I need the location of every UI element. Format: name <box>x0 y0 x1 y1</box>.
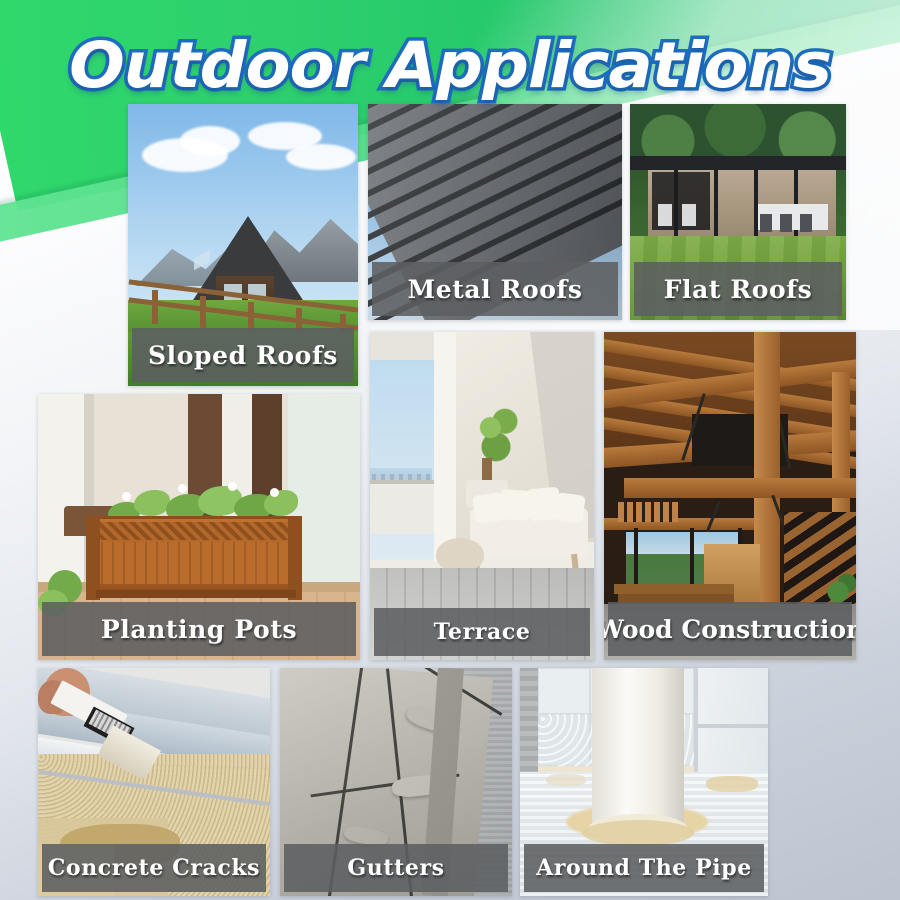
tile-concrete-cracks: Concrete Cracks <box>38 668 270 896</box>
tile-caption: Metal Roofs <box>372 262 618 316</box>
tile-caption: Wood Construction <box>608 602 852 656</box>
tile-terrace: Terrace <box>370 332 594 660</box>
tile-caption: Terrace <box>374 608 590 656</box>
page-title: Outdoor Applications <box>0 34 900 98</box>
tile-caption: Flat Roofs <box>634 262 842 316</box>
tile-planting-pots: Planting Pots <box>38 394 360 660</box>
tile-sloped-roofs: Sloped Roofs <box>128 104 358 386</box>
tile-metal-roofs: Metal Roofs <box>368 104 622 320</box>
tile-around-the-pipe: Around The Pipe <box>520 668 768 896</box>
tile-caption: Planting Pots <box>42 602 356 656</box>
tile-caption: Concrete Cracks <box>42 844 266 892</box>
tile-gutters: Gutters <box>280 668 512 896</box>
tile-wood-construction: Wood Construction <box>604 332 856 660</box>
tile-caption: Around The Pipe <box>524 844 764 892</box>
promo-graphic: Sloped Roofs Metal Roofs <box>0 0 900 900</box>
tile-caption: Gutters <box>284 844 508 892</box>
tile-flat-roofs: Flat Roofs <box>630 104 846 320</box>
tile-caption: Sloped Roofs <box>132 328 354 382</box>
